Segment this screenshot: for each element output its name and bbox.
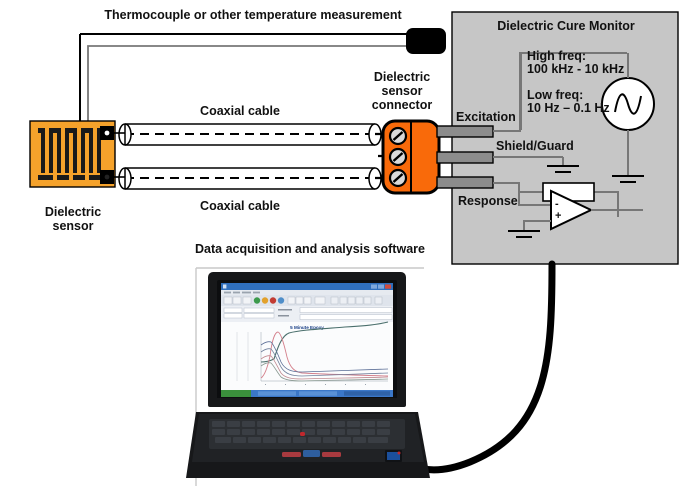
monitor-title: Dielectric Cure Monitor [484,19,648,33]
coaxial-cable-bottom [114,168,381,189]
response-lead [437,177,493,188]
opamp-noninverting-sign: + [555,210,561,222]
thermocouple-connector-block [406,28,446,54]
dielectric-sensor-connector-label: Dielectric sensor connector [352,70,452,112]
sensor-bus-bottom [38,175,110,180]
diagram-canvas: 5 Minute Epoxy [0,0,697,497]
coaxial-cable-bottom-label: Coaxial cable [160,199,320,213]
usb-cable-to-laptop [408,264,552,470]
trackpoint [300,432,305,436]
connector-screw-terminals [390,128,406,186]
dielectric-sensor-label: Dielectric sensor [22,205,124,233]
software-label: Data acquisition and analysis software [192,242,428,256]
high-freq-title: High freq: [527,49,586,63]
opamp-inverting-sign: - [555,198,559,210]
shield-guard-lead [437,152,493,163]
low-freq-value: 10 Hz – 0.1 Hz [527,101,610,115]
response-label: Response [458,194,518,208]
thermocouple-label: Thermocouple or other temperature measur… [98,8,408,22]
high-freq-value: 100 kHz - 10 kHz [527,62,624,76]
monitor-lead-bars [437,126,493,188]
excitation-label: Excitation [456,110,516,124]
trackpad-right-button [322,452,341,457]
coaxial-cable-top-label: Coaxial cable [160,104,320,118]
trackpad-left-button [282,452,301,457]
coaxial-cable-top [114,124,381,145]
low-freq-title: Low freq: [527,88,583,102]
trackpad-middle-button [303,450,320,457]
laptop-illustration: 5 Minute Epoxy [186,272,430,478]
excitation-lead [437,126,493,137]
shield-guard-label: Shield/Guard [496,139,574,153]
